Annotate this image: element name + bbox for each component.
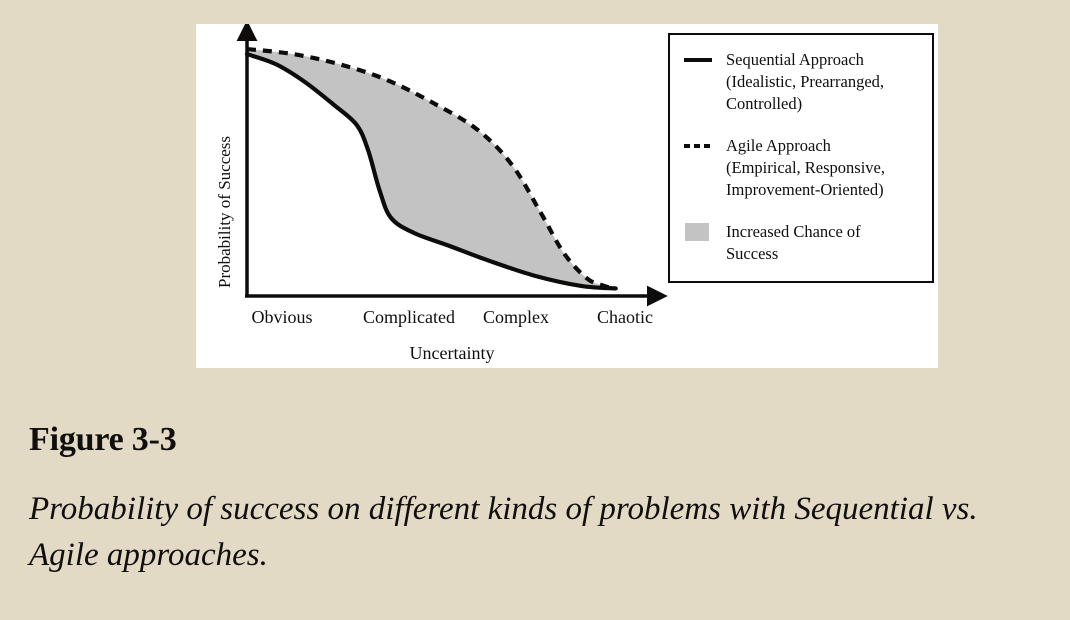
figure-number: Figure 3-3 <box>29 421 177 459</box>
legend-label-agile: Agile Approach(Empirical, Responsive,Imp… <box>726 135 885 200</box>
increased-chance-band <box>247 49 616 288</box>
figure-caption: Probability of success on different kind… <box>29 487 1049 578</box>
x-axis-label: Uncertainty <box>196 344 708 362</box>
chart-panel: Probability of Success Obvious Complicat… <box>196 24 938 368</box>
legend-entry-band: Increased Chance ofSuccess <box>682 221 926 265</box>
y-axis-label: Probability of Success <box>216 136 233 288</box>
legend-label-sequential: Sequential Approach(Idealistic, Prearran… <box>726 49 884 114</box>
legend-entry-sequential: Sequential Approach(Idealistic, Prearran… <box>682 49 926 114</box>
figure-3-3: Probability of Success Obvious Complicat… <box>0 0 1070 620</box>
legend-label-band: Increased Chance ofSuccess <box>726 221 861 265</box>
dashed-line-icon <box>682 135 720 157</box>
x-tick-label-chaotic: Chaotic <box>545 308 705 326</box>
chart-legend: Sequential Approach(Idealistic, Prearran… <box>668 33 934 283</box>
gray-swatch-icon <box>682 221 720 243</box>
legend-entry-agile: Agile Approach(Empirical, Responsive,Imp… <box>682 135 926 200</box>
solid-line-icon <box>682 49 720 71</box>
